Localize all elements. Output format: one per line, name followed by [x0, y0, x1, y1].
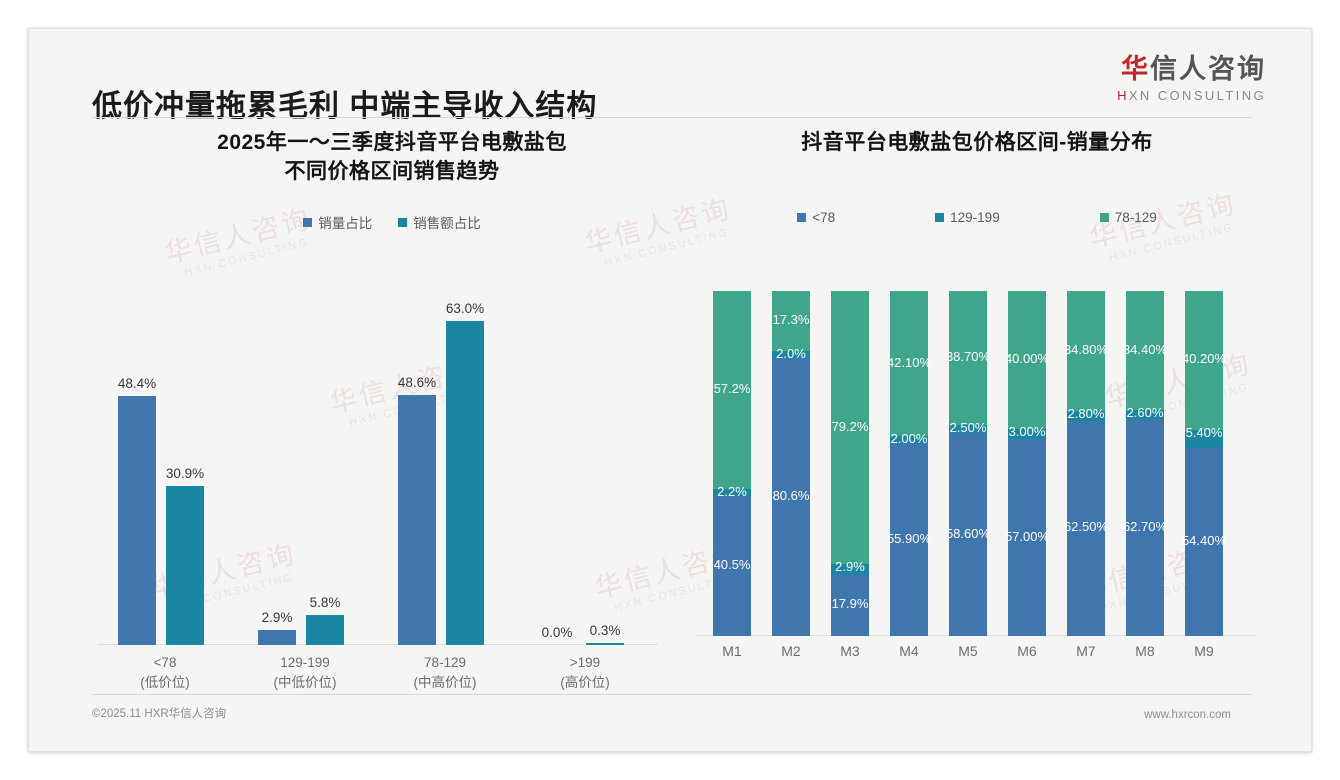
legend-label: 78-129	[1115, 210, 1157, 225]
x-axis-tick: M9	[1185, 643, 1223, 659]
logo-h-char: H	[1117, 88, 1129, 103]
segment-value-label: 3.00%	[1009, 424, 1046, 439]
stack-segment-78-129[interactable]: 40.20%	[1185, 291, 1223, 430]
left-chart-panel: 2025年一～三季度抖音平台电敷盐包 不同价格区间销售趋势 销量占比 销售额占比…	[92, 129, 692, 699]
bar-value-label: 0.3%	[590, 623, 621, 638]
stack-segment-129-199[interactable]: 2.0%	[772, 351, 810, 358]
header-divider	[92, 117, 1252, 118]
stack-segment-129-199[interactable]: 2.80%	[1067, 411, 1105, 421]
bar-volume[interactable]: 48.6%	[398, 395, 436, 645]
segment-value-label: 40.5%	[714, 557, 751, 572]
right-chart-title: 抖音平台电敷盐包价格区间-销量分布	[697, 129, 1257, 158]
bar-value-label: 63.0%	[446, 301, 484, 316]
bar-group: 2.9% 5.8%	[238, 285, 372, 645]
x-axis-tick: M6	[1008, 643, 1046, 659]
x-axis-tick: M5	[949, 643, 987, 659]
legend-swatch-blue	[303, 218, 312, 227]
logo-cn-rest: 信人咨询	[1150, 54, 1266, 84]
segment-value-label: 34.80%	[1064, 342, 1108, 357]
stacked-bar[interactable]: 34.40% 2.60% 62.70%	[1126, 291, 1164, 636]
legend-item-high-price[interactable]: 78-129	[1100, 210, 1157, 225]
stack-segment-78-129[interactable]: 34.40%	[1126, 291, 1164, 410]
stacked-bar[interactable]: 17.3% 2.0% 80.6%	[772, 291, 810, 636]
x-axis-tick: >199 (高价位)	[518, 653, 652, 692]
stack-segment-lt78[interactable]: 58.60%	[949, 433, 987, 636]
logo-english-text: HXN CONSULTING	[1117, 88, 1266, 103]
legend-item-sales-volume[interactable]: 销量占比	[303, 212, 372, 232]
legend-label: 销售额占比	[413, 212, 481, 232]
legend-label: 销量占比	[318, 212, 372, 232]
bar-volume[interactable]: 48.4%	[118, 396, 156, 645]
bar-value-label: 5.8%	[310, 595, 341, 610]
stack-segment-lt78[interactable]: 55.90%	[890, 443, 928, 636]
segment-value-label: 62.50%	[1064, 519, 1108, 534]
segment-value-label: 80.6%	[773, 488, 810, 503]
logo-chinese-text: 华信人咨询	[1117, 55, 1266, 85]
stack-segment-78-129[interactable]: 79.2%	[831, 291, 869, 564]
left-chart-title-line2: 不同价格区间销售趋势	[92, 158, 692, 187]
x-tick-sublabel: (低价位)	[98, 673, 232, 693]
stack-segment-lt78[interactable]: 40.5%	[713, 496, 751, 636]
x-axis-tick: 129-199 (中低价位)	[238, 653, 372, 692]
company-logo: 华信人咨询 HXN CONSULTING	[1117, 55, 1266, 103]
bar-group: 48.4% 30.9%	[98, 285, 232, 645]
segment-value-label: 54.40%	[1182, 533, 1226, 548]
stack-segment-lt78[interactable]: 17.9%	[831, 574, 869, 636]
stack-segment-lt78[interactable]: 80.6%	[772, 358, 810, 636]
logo-hua-char: 华	[1121, 54, 1150, 84]
stacked-bar[interactable]: 57.2% 2.2% 40.5%	[713, 291, 751, 636]
bar-value-label: 48.6%	[398, 375, 436, 390]
slide-frame: 华信人咨询 HXN CONSULTING 华信人咨询 HXN CONSULTIN…	[28, 28, 1312, 752]
slide-header: 低价冲量拖累毛利 中端主导收入结构 华信人咨询 HXN CONSULTING	[29, 29, 1311, 115]
x-tick-range: >199	[570, 655, 600, 670]
stacked-bar[interactable]: 79.2% 2.9% 17.9%	[831, 291, 869, 636]
footer-copyright: ©2025.11 HXR华信人咨询	[92, 705, 226, 721]
x-tick-sublabel: (高价位)	[518, 673, 652, 693]
left-chart-title: 2025年一～三季度抖音平台电敷盐包 不同价格区间销售趋势	[92, 129, 692, 186]
stack-segment-129-199[interactable]: 5.40%	[1185, 430, 1223, 449]
stacked-bar[interactable]: 42.10% 2.00% 55.90%	[890, 291, 928, 636]
x-axis-tick: M2	[772, 643, 810, 659]
stacked-bar[interactable]: 38.70% 2.50% 58.60%	[949, 291, 987, 636]
segment-value-label: 62.70%	[1123, 519, 1167, 534]
segment-value-label: 40.00%	[1005, 351, 1049, 366]
bar-amount[interactable]: 5.8%	[306, 615, 344, 645]
stack-segment-78-129[interactable]: 34.80%	[1067, 291, 1105, 411]
bar-group: 48.6% 63.0%	[378, 285, 512, 645]
segment-value-label: 34.40%	[1123, 342, 1167, 357]
x-axis-tick: <78 (低价位)	[98, 653, 232, 692]
legend-item-sales-amount[interactable]: 销售额占比	[398, 212, 481, 232]
segment-value-label: 5.40%	[1186, 425, 1223, 440]
bar-amount[interactable]: 30.9%	[166, 486, 204, 645]
x-axis-tick: M1	[713, 643, 751, 659]
footer-website[interactable]: www.hxrcon.com	[1144, 709, 1231, 721]
stacked-bar[interactable]: 34.80% 2.80% 62.50%	[1067, 291, 1105, 636]
stack-segment-129-199[interactable]: 2.00%	[890, 436, 928, 443]
stack-segment-78-129[interactable]: 40.00%	[1008, 291, 1046, 429]
left-chart-legend: 销量占比 销售额占比	[92, 212, 692, 232]
bar-group: 0.0% 0.3%	[518, 285, 652, 645]
stack-segment-129-199[interactable]: 2.50%	[949, 425, 987, 434]
segment-value-label: 2.80%	[1068, 406, 1105, 421]
stack-segment-78-129[interactable]: 57.2%	[713, 291, 751, 489]
bar-amount[interactable]: 0.3%	[586, 643, 624, 645]
bar-volume[interactable]: 2.9%	[258, 630, 296, 645]
right-chart-legend: <78 129-199 78-129	[697, 210, 1257, 225]
segment-value-label: 2.60%	[1127, 405, 1164, 420]
x-tick-range: 129-199	[280, 655, 330, 670]
stack-segment-lt78[interactable]: 54.40%	[1185, 448, 1223, 636]
stack-segment-129-199[interactable]: 2.60%	[1126, 410, 1164, 419]
legend-label: 129-199	[950, 210, 1000, 225]
legend-swatch-teal	[398, 218, 407, 227]
segment-value-label: 2.9%	[835, 559, 865, 574]
stacked-bar[interactable]: 40.20% 5.40% 54.40%	[1185, 291, 1223, 636]
x-axis-tick: M8	[1126, 643, 1164, 659]
bar-value-label: 48.4%	[118, 376, 156, 391]
segment-value-label: 17.9%	[832, 596, 869, 611]
x-tick-sublabel: (中低价位)	[238, 673, 372, 693]
footer-divider	[92, 694, 1252, 695]
stack-segment-lt78[interactable]: 57.00%	[1008, 439, 1046, 636]
x-axis-tick: M4	[890, 643, 928, 659]
segment-value-label: 17.3%	[773, 312, 810, 327]
x-tick-sublabel: (中高价位)	[378, 673, 512, 693]
stack-segment-lt78[interactable]: 62.50%	[1067, 421, 1105, 636]
x-axis-tick: M3	[831, 643, 869, 659]
segment-value-label: 58.60%	[946, 526, 990, 541]
stacked-bar[interactable]: 40.00% 3.00% 57.00%	[1008, 291, 1046, 636]
stack-segment-129-199[interactable]: 2.2%	[713, 489, 751, 497]
stack-segment-lt78[interactable]: 62.70%	[1126, 419, 1164, 636]
legend-label: <78	[812, 210, 835, 225]
bar-amount[interactable]: 63.0%	[446, 321, 484, 645]
segment-value-label: 57.00%	[1005, 529, 1049, 544]
segment-value-label: 55.90%	[887, 531, 931, 546]
stack-segment-78-129[interactable]: 17.3%	[772, 291, 810, 351]
right-chart-panel: 抖音平台电敷盐包价格区间-销量分布 <78 129-199 78-129 57.…	[697, 129, 1257, 699]
legend-swatch-green	[1100, 213, 1109, 222]
stack-segment-78-129[interactable]: 38.70%	[949, 291, 987, 425]
stack-segment-129-199[interactable]: 2.9%	[831, 564, 869, 574]
bar-value-label: 2.9%	[262, 610, 293, 625]
bar-value-label: 30.9%	[166, 466, 204, 481]
stack-segment-129-199[interactable]: 3.00%	[1008, 429, 1046, 439]
legend-item-low-price[interactable]: <78	[797, 210, 835, 225]
left-chart-plot-area: 48.4% 30.9% 2.9% 5.8% 48.6% 63.0	[92, 285, 692, 645]
legend-swatch-teal	[935, 213, 944, 222]
left-chart-title-line1: 2025年一～三季度抖音平台电敷盐包	[92, 129, 692, 158]
logo-en-rest: XN CONSULTING	[1129, 88, 1266, 103]
stack-segment-78-129[interactable]: 42.10%	[890, 291, 928, 436]
page-title: 低价冲量拖累毛利 中端主导收入结构	[92, 81, 597, 125]
bar-value-label: 0.0%	[542, 625, 573, 640]
x-tick-range: <78	[154, 655, 177, 670]
segment-value-label: 57.2%	[714, 381, 751, 396]
legend-item-mid-price[interactable]: 129-199	[935, 210, 1000, 225]
segment-value-label: 79.2%	[832, 419, 869, 434]
segment-value-label: 40.20%	[1182, 351, 1226, 366]
x-axis-tick: M7	[1067, 643, 1105, 659]
x-tick-range: 78-129	[424, 655, 466, 670]
right-chart-title-line1: 抖音平台电敷盐包价格区间-销量分布	[697, 129, 1257, 158]
legend-swatch-blue	[797, 213, 806, 222]
segment-value-label: 42.10%	[887, 355, 931, 370]
segment-value-label: 38.70%	[946, 349, 990, 364]
x-axis-tick: 78-129 (中高价位)	[378, 653, 512, 692]
right-chart-plot-area: 57.2% 2.2% 40.5% 17.3% 2.0% 80.6% 79.2% …	[697, 291, 1257, 636]
